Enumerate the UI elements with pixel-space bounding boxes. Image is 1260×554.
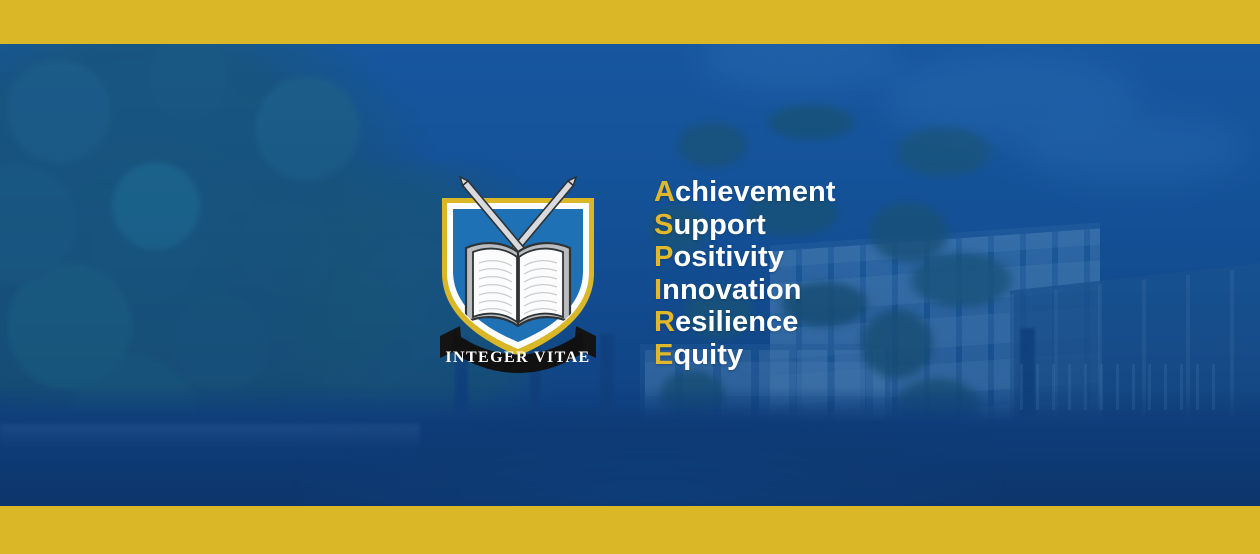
value-item-achievement: Achievement: [654, 176, 836, 209]
bottom-gold-bar: [0, 506, 1260, 554]
school-banner: INTEGER VITAE Achievement Support Positi…: [0, 0, 1260, 554]
value-item-resilience: Resilience: [654, 306, 836, 339]
value-initial: I: [654, 274, 662, 306]
value-initial: R: [654, 306, 675, 338]
value-rest: nnovation: [662, 274, 801, 306]
open-book-icon: [466, 243, 570, 326]
value-item-innovation: Innovation: [654, 274, 836, 307]
value-initial: A: [654, 176, 675, 208]
aspire-values-list: Achievement Support Positivity Innovatio…: [654, 176, 836, 371]
value-item-equity: Equity: [654, 339, 836, 372]
value-rest: quity: [673, 339, 743, 371]
value-rest: upport: [673, 209, 765, 241]
school-crest-logo: INTEGER VITAE: [432, 176, 604, 380]
value-item-positivity: Positivity: [654, 241, 836, 274]
value-rest: esilience: [675, 306, 798, 338]
value-rest: chievement: [675, 176, 836, 208]
campus-photo-background: [0, 44, 1260, 506]
value-initial: S: [654, 209, 673, 241]
motto-text: INTEGER VITAE: [445, 349, 590, 366]
value-item-support: Support: [654, 209, 836, 242]
value-initial: E: [654, 339, 673, 371]
value-initial: P: [654, 241, 673, 273]
value-rest: ositivity: [673, 241, 784, 273]
top-gold-bar: [0, 0, 1260, 44]
blue-tint-overlay: [0, 44, 1260, 506]
